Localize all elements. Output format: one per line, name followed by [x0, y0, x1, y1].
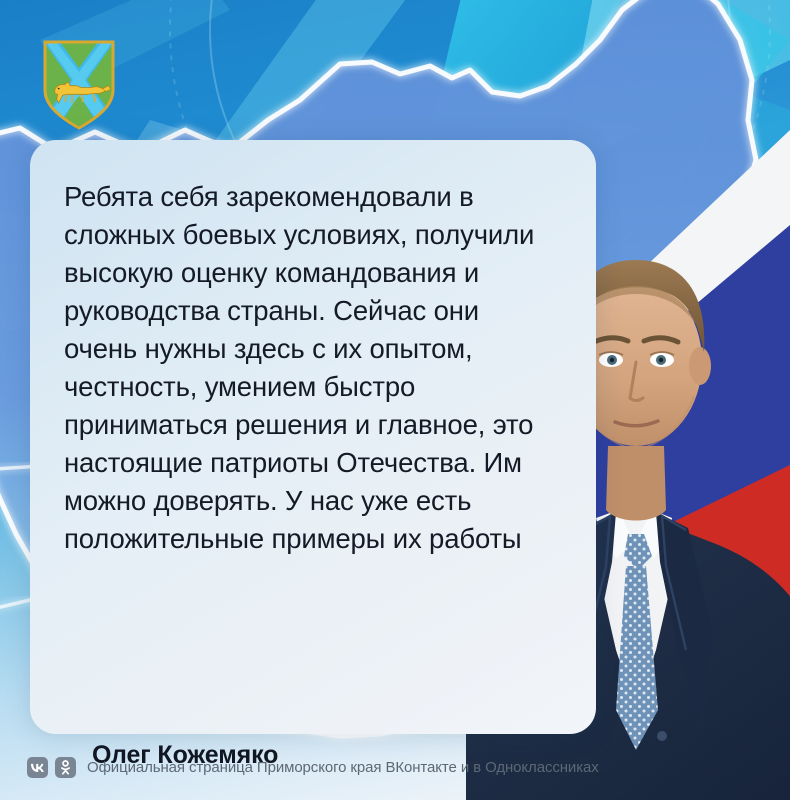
primorsky-coat-of-arms: [41, 38, 117, 130]
vk-icon[interactable]: [27, 757, 48, 778]
footer-text: Официальная страница Приморского края ВК…: [87, 759, 599, 776]
quote-card: Ребята себя зарекомендовали в сложных бо…: [30, 140, 596, 734]
ok-icon[interactable]: [55, 757, 76, 778]
poster-root: Ребята себя зарекомендовали в сложных бо…: [0, 0, 790, 800]
quote-text: Ребята себя зарекомендовали в сложных бо…: [64, 178, 544, 558]
